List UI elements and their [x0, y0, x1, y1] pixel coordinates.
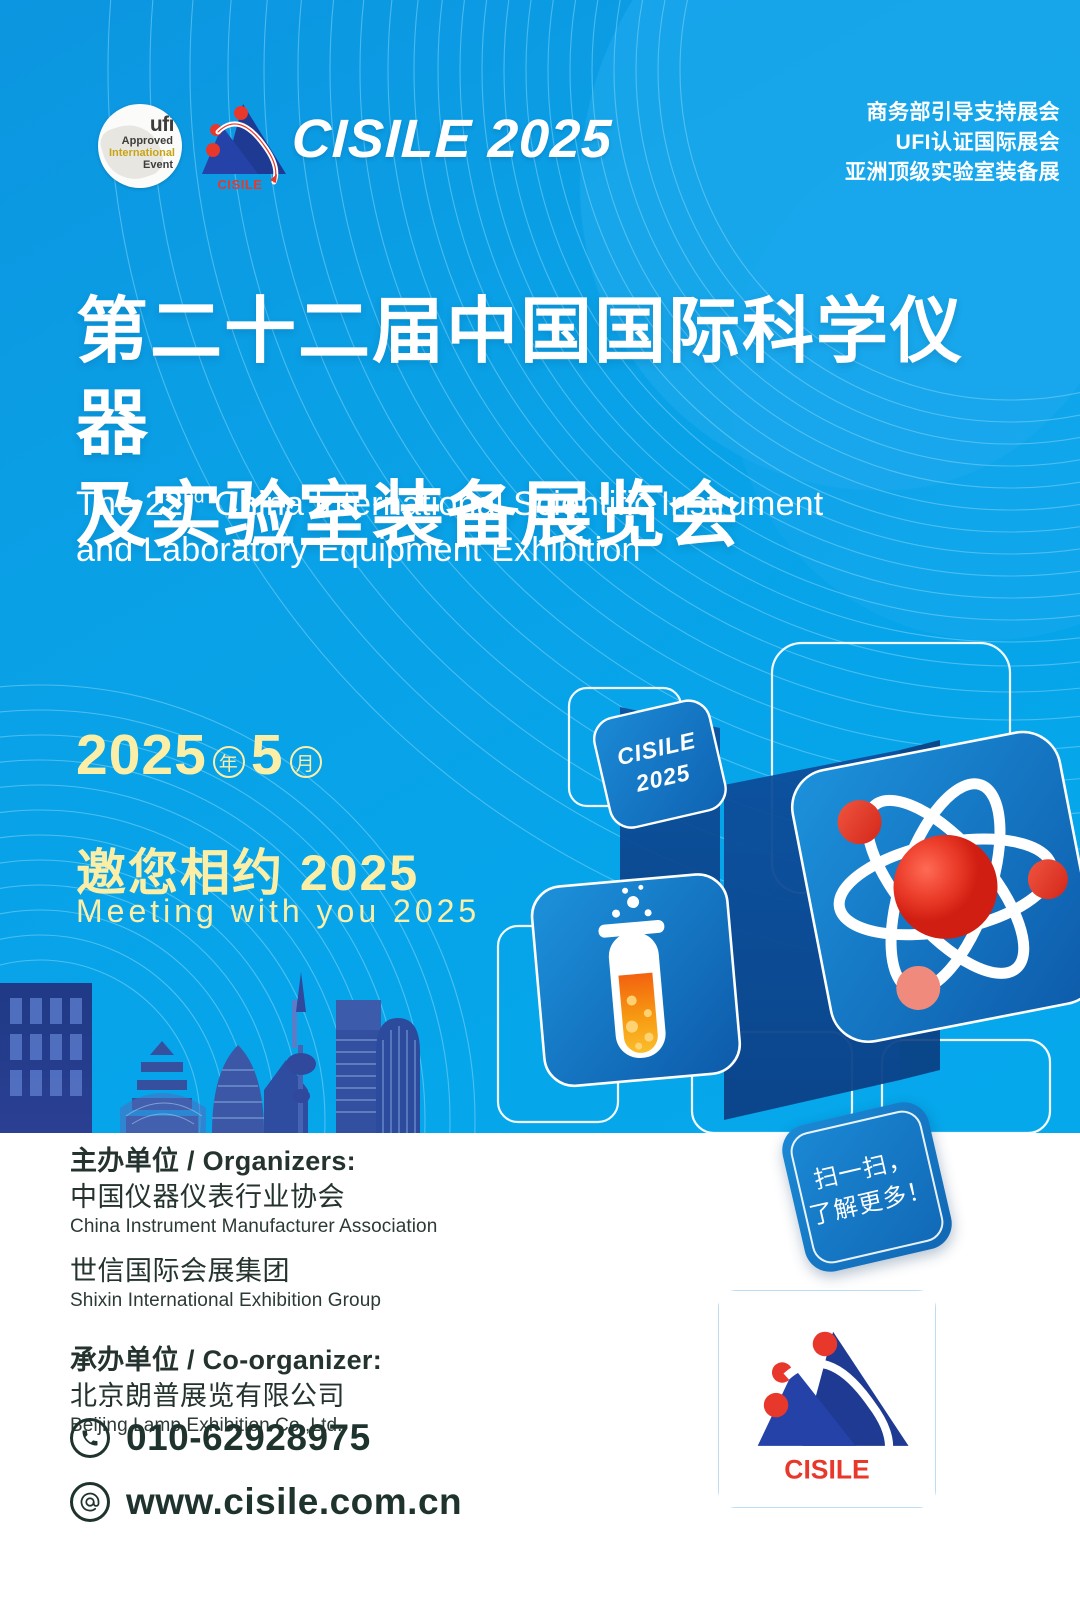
svg-text:CISILE: CISILE	[784, 1455, 869, 1485]
title-en-ordinal: nd	[183, 487, 205, 508]
ufi-approved-seal-icon: ufi Approved International Event	[98, 104, 182, 188]
qr-center-logo-icon: CISILE	[721, 1293, 933, 1505]
event-year: 2025	[76, 722, 207, 788]
flask-tile	[530, 872, 743, 1088]
website-url[interactable]: www.cisile.com.cn	[126, 1481, 462, 1523]
title-en-line-2: and Laboratory Equipment Exhibition	[76, 528, 1006, 574]
event-month: 5	[251, 722, 284, 788]
phone-row[interactable]: 010-62928975	[70, 1417, 462, 1459]
header-tagline: 商务部引导支持展会 UFI认证国际展会 亚洲顶级实验室装备展	[640, 98, 1060, 187]
hero-blue-panel: ufi Approved International Event CISILE …	[0, 0, 1080, 1133]
coorganizer-heading: 承办单位 / Co-organizer:	[70, 1338, 590, 1377]
ufi-approved-label: Approved	[122, 136, 173, 148]
page-title-english: The 22nd China International Scientific …	[76, 482, 1006, 574]
tagline-line-2: UFI认证国际展会	[640, 128, 1060, 158]
phone-icon	[70, 1418, 110, 1458]
email-at-icon	[70, 1482, 110, 1522]
cisile-logo-icon: CISILE	[188, 96, 292, 194]
science-illustration: CISILE 2025	[470, 600, 1080, 1133]
poster-header: ufi Approved International Event CISILE …	[0, 0, 1080, 200]
title-en-line-1: The 22nd China International Scientific …	[76, 482, 1006, 528]
organizers-block: 主办单位 / Organizers: 中国仪器仪表行业协会 China Inst…	[70, 1139, 590, 1438]
organizer-2-cn: 世信国际会展集团	[70, 1256, 590, 1288]
ufi-wordmark: ufi	[150, 114, 174, 135]
poster-root: ufi Approved International Event CISILE …	[0, 0, 1080, 1620]
organizers-heading: 主办单位 / Organizers:	[70, 1139, 590, 1178]
organizer-2-en: Shixin International Exhibition Group	[70, 1290, 590, 1313]
title-cn-line-1: 第二十二届中国国际科学仪器	[76, 292, 964, 464]
svg-text:CISILE: CISILE	[218, 177, 263, 192]
tagline-line-3: 亚洲顶级实验室装备展	[640, 158, 1060, 188]
title-en-prefix: The 22	[76, 485, 183, 523]
website-row[interactable]: www.cisile.com.cn	[70, 1481, 462, 1523]
tagline-line-1: 商务部引导支持展会	[640, 98, 1060, 128]
organizer-1-en: China Instrument Manufacturer Associatio…	[70, 1216, 590, 1239]
brand-wordmark: CISILE 2025	[291, 108, 613, 170]
invitation-english: Meeting with you 2025	[76, 893, 480, 930]
title-en-rest: China International Scientific Instrumen…	[205, 485, 824, 523]
year-unit-badge: 年	[213, 746, 245, 778]
ufi-event-label: Event	[143, 160, 173, 172]
atom-tile	[786, 725, 1080, 1048]
coorganizer-cn: 北京朗普展览有限公司	[70, 1381, 590, 1413]
ufi-international-label: International	[109, 148, 175, 160]
month-unit-badge: 月	[290, 746, 322, 778]
contact-block: 010-62928975 www.cisile.com.cn	[70, 1417, 462, 1545]
qr-code[interactable]: CISILE	[718, 1290, 936, 1508]
event-date: 2025 年 5 月	[76, 722, 328, 788]
organizer-1-cn: 中国仪器仪表行业协会	[70, 1182, 590, 1214]
phone-number: 010-62928975	[126, 1417, 371, 1459]
